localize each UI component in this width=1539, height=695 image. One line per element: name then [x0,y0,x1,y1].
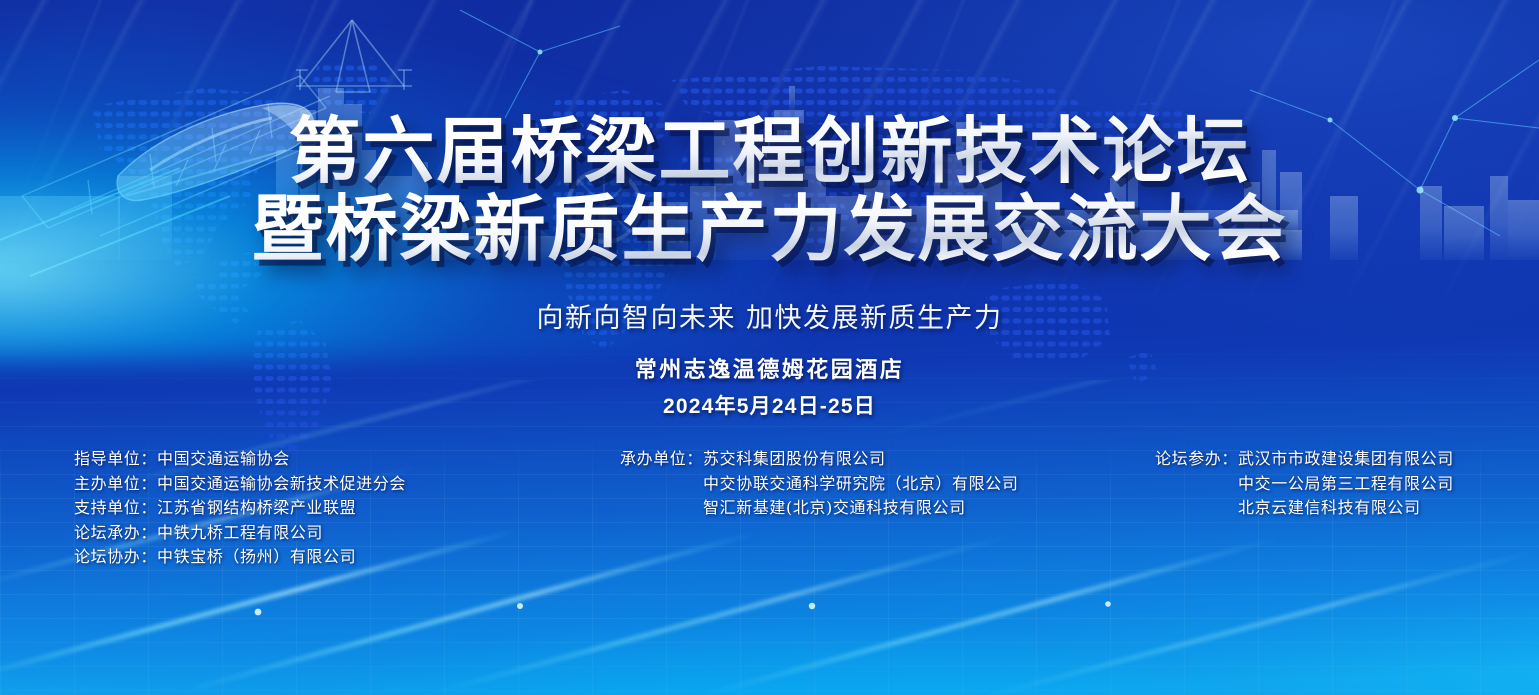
organization-row: 承办单位：中交协联交通科学研究院（北京）有限公司 [620,472,1018,497]
title-block: 第六届桥梁工程创新技术论坛 暨桥梁新质生产力发展交流大会 [0,112,1539,268]
organizations-center-column: 承办单位：苏交科集团股份有限公司承办单位：中交协联交通科学研究院（北京）有限公司… [620,447,1018,521]
organization-name: 苏交科集团股份有限公司 [703,449,886,468]
organization-name: 中国交通运输协会新技术促进分会 [157,474,406,493]
organization-row: 承办单位：智汇新基建(北京)交通科技有限公司 [620,496,1018,521]
organization-row: 论坛参办：中交一公局第三工程有限公司 [1155,472,1454,497]
organization-row: 支持单位：江苏省钢结构桥梁产业联盟 [74,496,406,521]
organization-row: 论坛参办：北京云建信科技有限公司 [1155,496,1454,521]
conference-banner: 第六届桥梁工程创新技术论坛 暨桥梁新质生产力发展交流大会 向新向智向未来 加快发… [0,0,1539,695]
venue-name: 常州志逸温德姆花园酒店 [0,352,1539,384]
subtitle-slogan: 向新向智向未来 加快发展新质生产力 [0,296,1539,335]
organization-label: 论坛协办： [74,545,157,570]
organization-row: 论坛参办：武汉市市政建设集团有限公司 [1155,447,1454,472]
venue-block: 常州志逸温德姆花园酒店 2024年5月24日-25日 [0,352,1539,420]
main-title-line-1: 第六届桥梁工程创新技术论坛 [0,112,1539,190]
organization-name: 中铁宝桥（扬州）有限公司 [157,547,356,566]
organization-name: 中交协联交通科学研究院（北京）有限公司 [703,474,1018,493]
organization-row: 主办单位：中国交通运输协会新技术促进分会 [74,472,406,497]
organization-label: 论坛承办： [74,521,157,546]
organization-name: 中国交通运输协会 [157,449,290,468]
organization-label: 承办单位： [620,447,703,472]
organization-name: 智汇新基建(北京)交通科技有限公司 [703,498,966,517]
organizations-right-column: 论坛参办：武汉市市政建设集团有限公司论坛参办：中交一公局第三工程有限公司论坛参办… [1155,447,1454,521]
organization-name: 中交一公局第三工程有限公司 [1238,474,1454,493]
organizations-left-column: 指导单位：中国交通运输协会主办单位：中国交通运输协会新技术促进分会支持单位：江苏… [74,447,406,570]
organization-label: 主办单位： [74,472,157,497]
organization-row: 承办单位：苏交科集团股份有限公司 [620,447,1018,472]
organization-name: 武汉市市政建设集团有限公司 [1238,449,1454,468]
organization-label: 论坛参办： [1155,447,1238,472]
organization-name: 江苏省钢结构桥梁产业联盟 [157,498,356,517]
main-title-line-2: 暨桥梁新质生产力发展交流大会 [0,190,1539,268]
organization-row: 论坛协办：中铁宝桥（扬州）有限公司 [74,545,406,570]
organization-name: 中铁九桥工程有限公司 [157,523,323,542]
organization-row: 论坛承办：中铁九桥工程有限公司 [74,521,406,546]
organization-label: 指导单位： [74,447,157,472]
organization-name: 北京云建信科技有限公司 [1238,498,1421,517]
organization-label: 支持单位： [74,496,157,521]
organization-row: 指导单位：中国交通运输协会 [74,447,406,472]
event-date: 2024年5月24日-25日 [0,390,1539,420]
